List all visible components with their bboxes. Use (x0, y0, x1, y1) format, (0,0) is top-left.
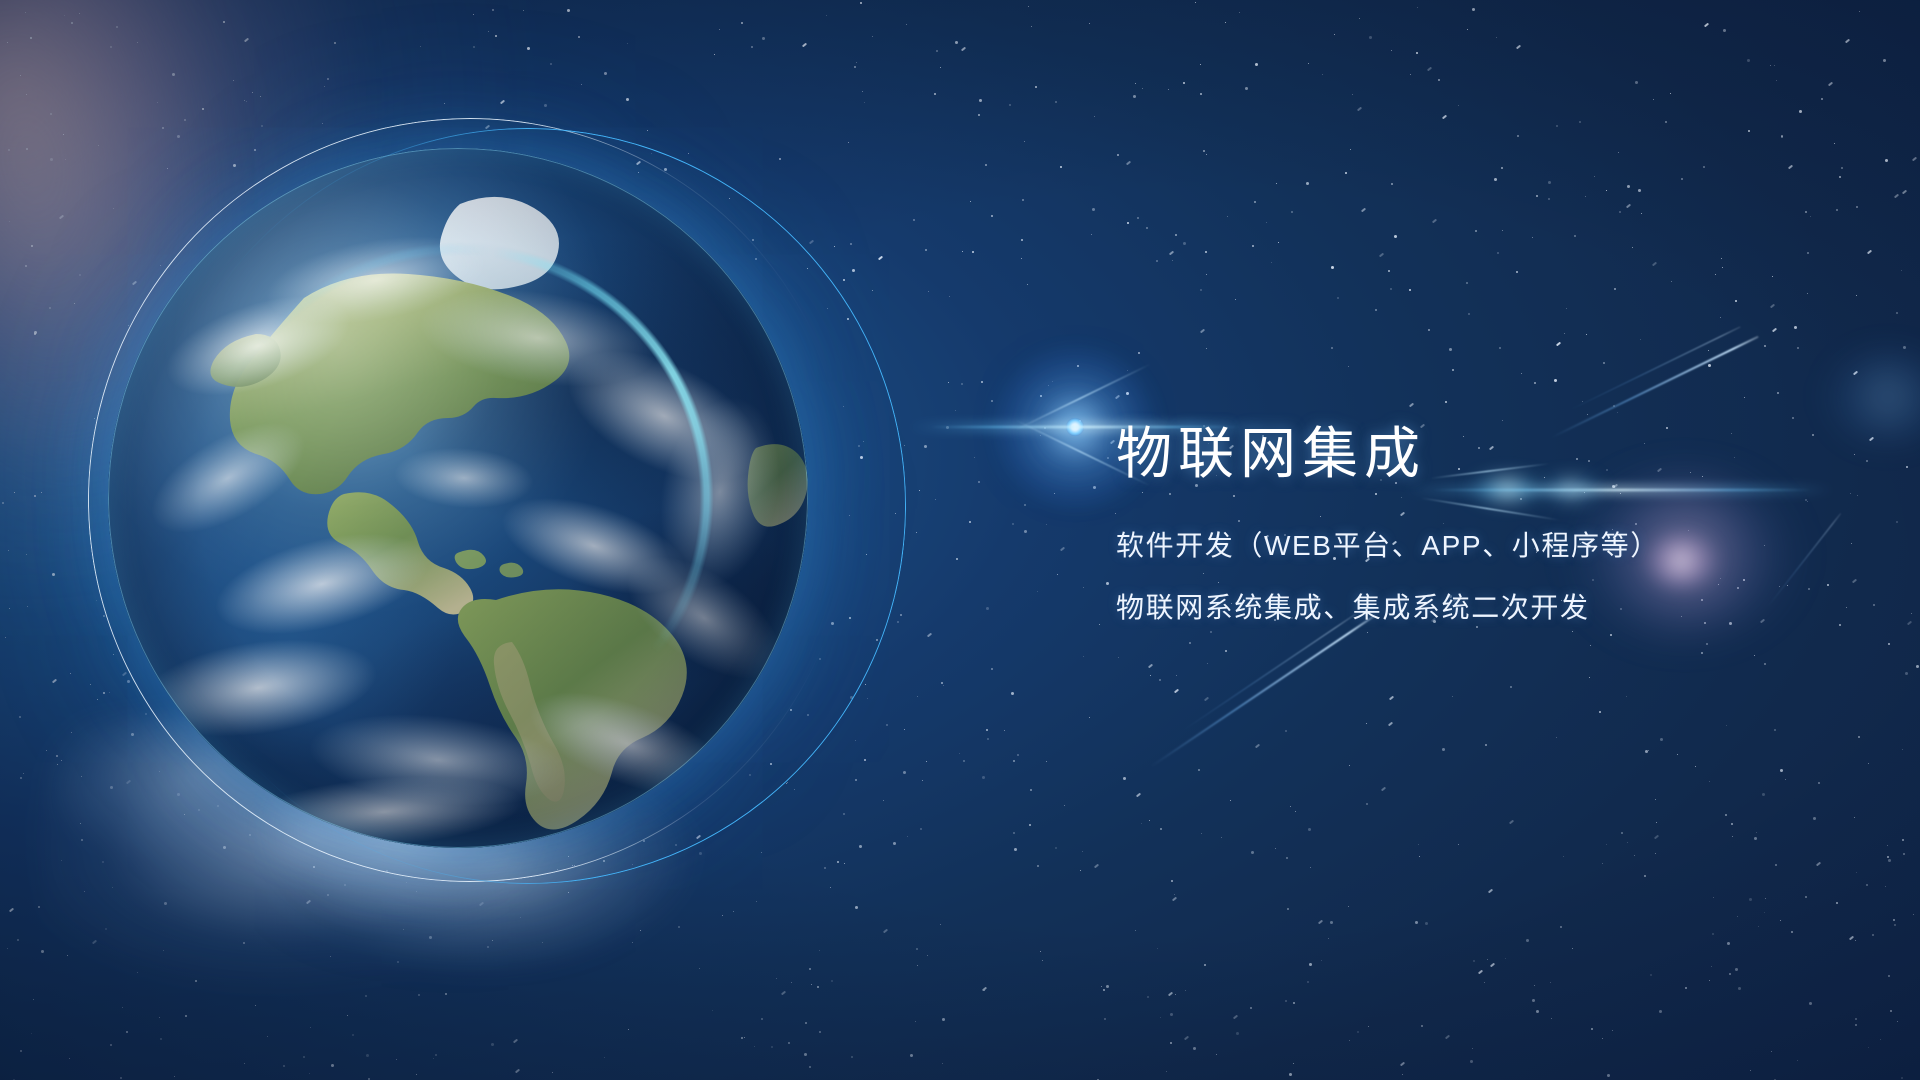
limb-highlight (105, 145, 811, 851)
subtitle-line-1: 软件开发（WEB平台、APP、小程序等） (1116, 524, 1836, 564)
earth-globe (108, 148, 808, 848)
page-title: 物联网集成 (1116, 424, 1836, 484)
hero-banner: 物联网集成 软件开发（WEB平台、APP、小程序等） 物联网系统集成、集成系统二… (0, 0, 1920, 1080)
hero-copy: 物联网集成 软件开发（WEB平台、APP、小程序等） 物联网系统集成、集成系统二… (1116, 424, 1836, 626)
subtitle-line-2: 物联网系统集成、集成系统二次开发 (1116, 586, 1836, 626)
